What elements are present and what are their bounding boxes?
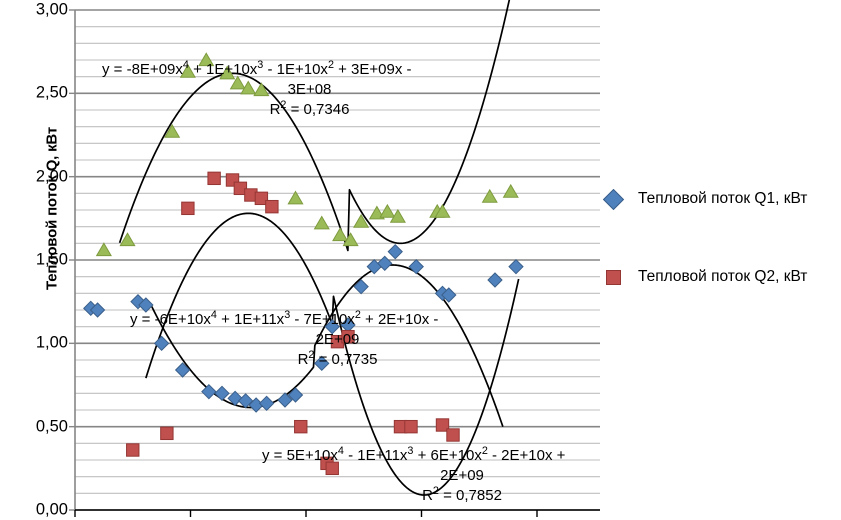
data-point-triangle — [380, 205, 394, 217]
data-point-square — [127, 444, 139, 456]
data-point-triangle — [315, 217, 329, 229]
equation-line-2: 2E+09 — [262, 466, 662, 486]
trendline-equation-blue: y = -6E+10x4 + 1E+11x3 - 7E+10x2 + 2E+10… — [130, 310, 545, 370]
equation-line-2: 2E+09 — [130, 330, 545, 350]
data-point-triangle — [483, 190, 497, 202]
legend-item[interactable]: Тепловой поток Q1, кВт — [600, 160, 840, 238]
equation-r2: R2 = 0,7735 — [130, 350, 545, 370]
data-point-diamond — [388, 245, 402, 259]
data-point-square — [447, 429, 459, 441]
data-point-diamond — [215, 386, 229, 400]
data-point-diamond — [488, 273, 502, 287]
equation-line-2: 3E+08 — [102, 80, 517, 100]
data-point-triangle — [97, 243, 111, 255]
y-axis-tick-label: 1,50 — [6, 251, 68, 270]
legend-marker-shape — [606, 270, 621, 285]
equation-r2: R2 = 0,7346 — [102, 100, 517, 120]
data-point-triangle — [504, 185, 518, 197]
y-axis-tick-label: 0,00 — [6, 501, 68, 520]
y-axis-tick-labels: 3,002,502,001,501,000,500,00 — [0, 0, 68, 519]
data-point-square — [295, 420, 307, 432]
data-point-square — [405, 420, 417, 432]
equation-r2: R2 = 0,7852 — [262, 486, 662, 506]
data-point-square — [266, 200, 278, 212]
equation-line-1: y = -8E+09x4 + 1E+10x3 - 1E+10x2 + 3E+09… — [102, 60, 517, 80]
y-axis-tick-label: 1,00 — [6, 334, 68, 353]
trendline-equation-green: y = -8E+09x4 + 1E+10x3 - 1E+10x2 + 3E+09… — [102, 60, 517, 120]
data-point-diamond — [202, 385, 216, 399]
diamond-marker-icon — [600, 192, 626, 207]
square-marker-icon — [600, 270, 626, 285]
y-axis-tick-label: 3,00 — [6, 1, 68, 20]
y-axis-tick-label: 2,50 — [6, 84, 68, 103]
data-point-triangle — [333, 228, 347, 240]
y-axis-tick-label: 0,50 — [6, 417, 68, 436]
data-point-diamond — [509, 260, 523, 274]
data-point-square — [161, 427, 173, 439]
data-point-triangle — [354, 215, 368, 227]
legend-marker-shape — [602, 188, 623, 209]
legend-item[interactable]: Тепловой поток Q2, кВт — [600, 238, 840, 316]
data-point-diamond — [260, 396, 274, 410]
y-axis-tick-label: 2,00 — [6, 167, 68, 186]
equation-line-1: y = 5E+10x4 - 1E+11x3 + 6E+10x2 - 2E+10x… — [262, 446, 662, 466]
data-point-square — [208, 172, 220, 184]
trendline-equation-red: y = 5E+10x4 - 1E+11x3 + 6E+10x2 - 2E+10x… — [262, 446, 662, 506]
data-point-diamond — [409, 260, 423, 274]
chart-container: Тепловой поток Q, кВт 3,002,502,001,501,… — [0, 0, 841, 519]
equation-line-1: y = -6E+10x4 + 1E+11x3 - 7E+10x2 + 2E+10… — [130, 310, 545, 330]
legend-item-label: Тепловой поток Q1, кВт — [638, 190, 807, 208]
chart-legend: Тепловой поток Q1, кВтТепловой поток Q2,… — [600, 160, 840, 316]
legend-item-label: Тепловой поток Q2, кВт — [638, 268, 807, 286]
data-point-square — [182, 202, 194, 214]
